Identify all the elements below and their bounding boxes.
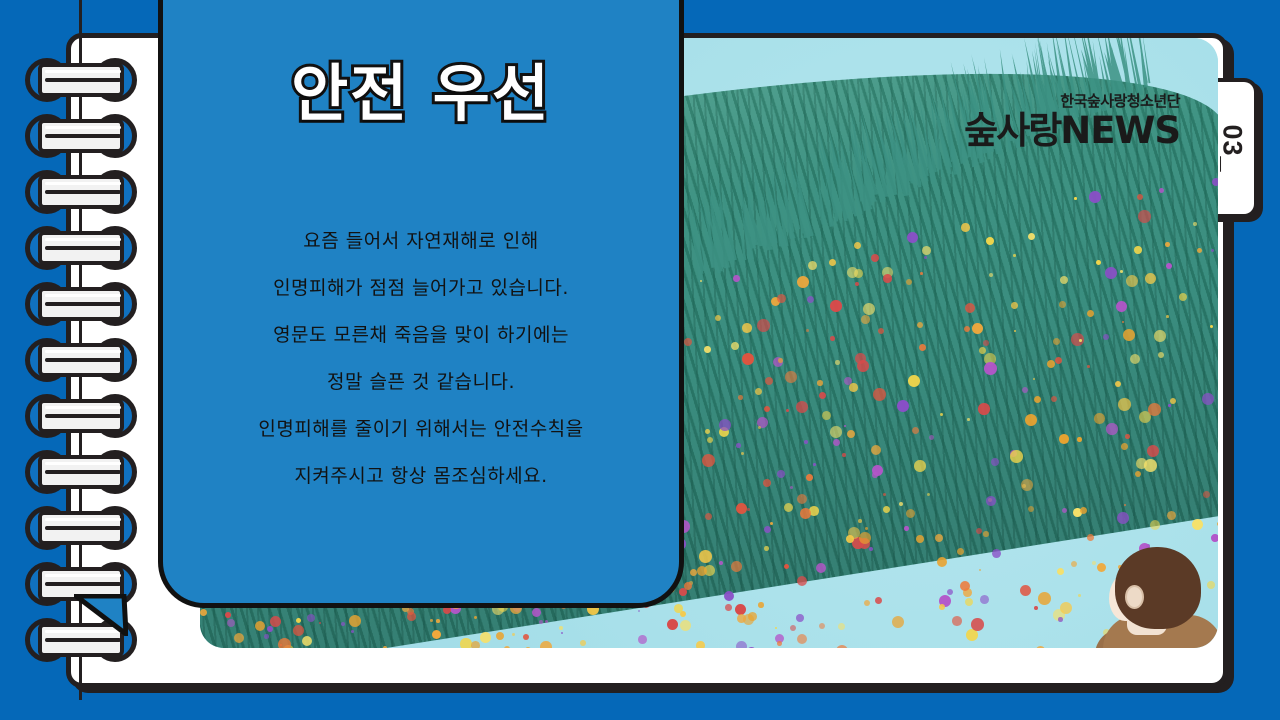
newsletter-logo: 한국숲사랑청소년단 숲사랑NEWS: [964, 90, 1180, 149]
person-ear: [1125, 585, 1144, 609]
bubble-body-line: 인명피해를 줄이기 위해서는 안전수칙을: [191, 406, 651, 453]
person-figure: [1095, 543, 1218, 648]
speech-bubble: 안전 우선 요즘 들어서 자연재해로 인해인명피해가 점점 늘어가고 있습니다.…: [158, 0, 684, 608]
spiral-ring: [25, 338, 137, 382]
bubble-body-line: 영문도 모른채 죽음을 맞이 하기에는: [191, 312, 651, 359]
slide-background: 03_ 한국숲사랑청소년단 숲사랑NEWS 안전 우선 요즘 들어서: [0, 0, 1280, 720]
bubble-body-line: 지켜주시고 항상 몸조심하세요.: [191, 453, 651, 500]
logo-title-korean: 숲사랑: [964, 109, 1060, 152]
bubble-title: 안전 우선: [163, 43, 679, 133]
spiral-ring: [25, 450, 137, 494]
bubble-body-line: 인명피해가 점점 늘어가고 있습니다.: [191, 265, 651, 312]
spiral-ring: [25, 226, 137, 270]
spiral-ring: [25, 58, 137, 102]
speech-bubble-tail: [74, 594, 128, 636]
spiral-ring: [25, 282, 137, 326]
logo-title: 숲사랑NEWS: [964, 112, 1180, 149]
logo-org-name: 한국숲사랑청소년단: [964, 90, 1180, 111]
bubble-body-text: 요즘 들어서 자연재해로 인해인명피해가 점점 늘어가고 있습니다.영문도 모른…: [191, 218, 651, 500]
logo-title-english: NEWS: [1060, 109, 1180, 152]
spiral-ring: [25, 506, 137, 550]
spiral-ring: [25, 170, 137, 214]
bubble-body-line: 정말 슬픈 것 같습니다.: [191, 359, 651, 406]
spiral-ring: [25, 114, 137, 158]
bubble-body-line: 요즘 들어서 자연재해로 인해: [191, 218, 651, 265]
spiral-ring: [25, 394, 137, 438]
index-tab-label: 03_: [1217, 124, 1248, 172]
